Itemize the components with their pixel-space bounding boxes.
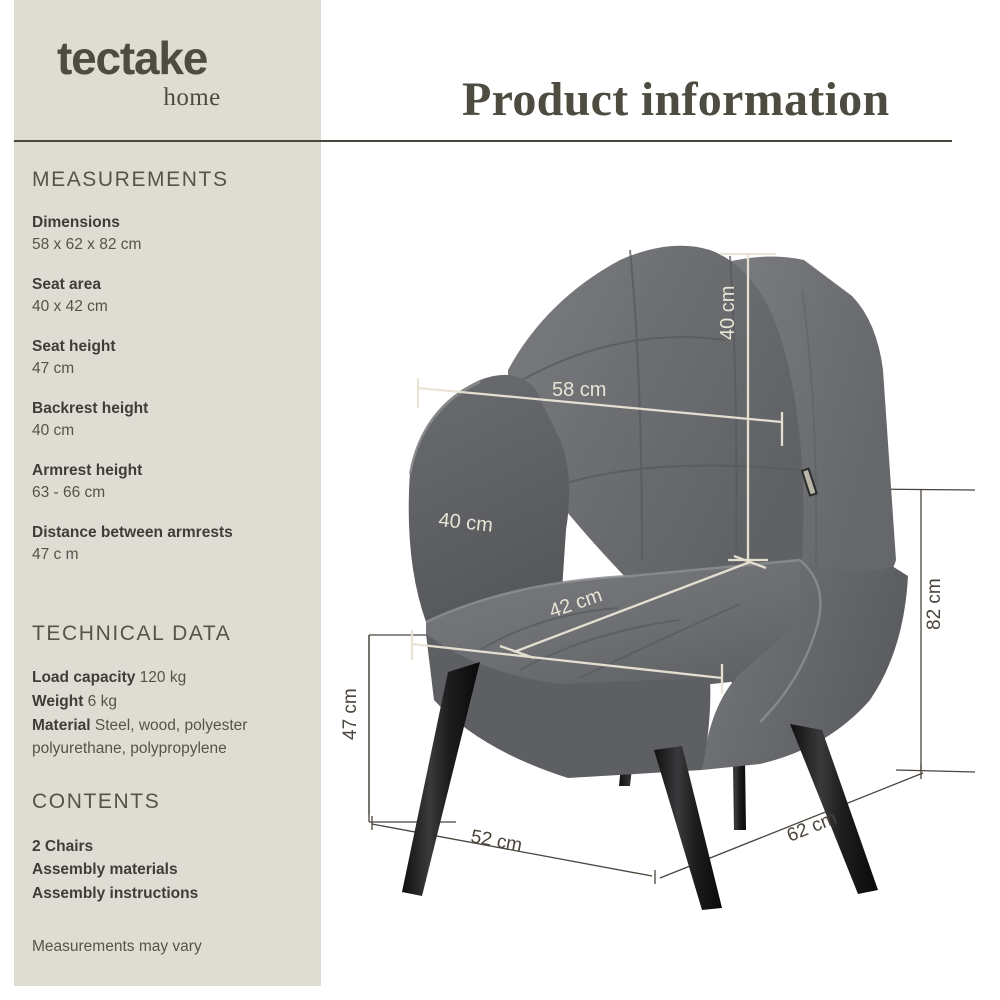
dim-label-footprint-width: 52 cm	[469, 826, 524, 856]
product-diagram: 40 cm 58 cm 42 cm 40 cm 47 cm 82 cm 52 c…	[330, 230, 1000, 910]
chair-dimension-drawing: 40 cm 58 cm 42 cm 40 cm 47 cm 82 cm 52 c…	[330, 230, 1000, 910]
tech-label: Weight	[32, 693, 83, 710]
tech-value: Steel, wood, polyester	[91, 717, 248, 734]
spec-label: Armrest height	[32, 460, 307, 482]
spec-value: 47 c m	[32, 544, 307, 566]
spec-label: Seat height	[32, 336, 307, 358]
measurement-disclaimer: Measurements may vary	[32, 938, 202, 956]
dim-label-total-height: 82 cm	[924, 578, 945, 630]
tech-value: 120 kg	[135, 669, 186, 686]
section-heading-measurements: MEASUREMENTS	[32, 168, 229, 192]
tech-row-load-capacity: Load capacity 120 kg	[32, 666, 310, 690]
tech-row-weight: Weight 6 kg	[32, 690, 310, 714]
tech-value: 6 kg	[83, 693, 117, 710]
spec-label: Seat area	[32, 274, 307, 296]
brand-subtitle: home	[87, 85, 297, 110]
chair-leg-front-right	[790, 724, 878, 894]
spec-label: Distance between armrests	[32, 522, 307, 544]
section-heading-technical-data: TECHNICAL DATA	[32, 622, 231, 646]
technical-data-list: Load capacity 120 kg Weight 6 kg Materia…	[32, 666, 310, 760]
page-title: Product information	[462, 72, 889, 127]
content-item: Assembly instructions	[32, 882, 307, 905]
spec-value: 58 x 62 x 82 cm	[32, 234, 307, 256]
contents-list: 2 Chairs Assembly materials Assembly ins…	[32, 835, 307, 905]
tech-material-continued: polyurethane, polypropylene	[32, 738, 310, 760]
spec-armrest-height: Armrest height 63 - 66 cm	[32, 460, 307, 505]
tech-label: Material	[32, 717, 91, 734]
dim-label-backrest-height: 40 cm	[717, 286, 739, 340]
spec-distance-between-armrests: Distance between armrests 47 c m	[32, 522, 307, 567]
spec-value: 63 - 66 cm	[32, 482, 307, 504]
spec-label: Dimensions	[32, 212, 307, 234]
brand-name: tectake	[57, 35, 297, 81]
spec-seat-area: Seat area 40 x 42 cm	[32, 274, 307, 319]
dim-label-width-overall: 58 cm	[552, 379, 606, 401]
spec-value: 47 cm	[32, 358, 307, 380]
spec-value: 40 cm	[32, 420, 307, 442]
dim-label-footprint-depth: 62 cm	[784, 808, 840, 847]
measurements-list: Dimensions 58 x 62 x 82 cm Seat area 40 …	[32, 212, 307, 584]
tech-label: Load capacity	[32, 669, 135, 686]
section-heading-contents: CONTENTS	[32, 790, 160, 814]
sidebar-panel: tectake home MEASUREMENTS Dimensions 58 …	[14, 0, 321, 986]
product-information-page: tectake home MEASUREMENTS Dimensions 58 …	[0, 0, 1000, 1000]
dim-label-seat-height: 47 cm	[340, 688, 361, 740]
brand-logo: tectake home	[57, 35, 297, 110]
spec-backrest-height: Backrest height 40 cm	[32, 398, 307, 443]
spec-label: Backrest height	[32, 398, 307, 420]
tech-row-material: Material Steel, wood, polyester	[32, 714, 310, 738]
header-divider	[14, 140, 952, 142]
spec-seat-height: Seat height 47 cm	[32, 336, 307, 381]
content-item: 2 Chairs	[32, 835, 307, 858]
spec-dimensions: Dimensions 58 x 62 x 82 cm	[32, 212, 307, 257]
content-item: Assembly materials	[32, 858, 307, 881]
spec-value: 40 x 42 cm	[32, 296, 307, 318]
chair-leg-front-center	[654, 746, 722, 910]
